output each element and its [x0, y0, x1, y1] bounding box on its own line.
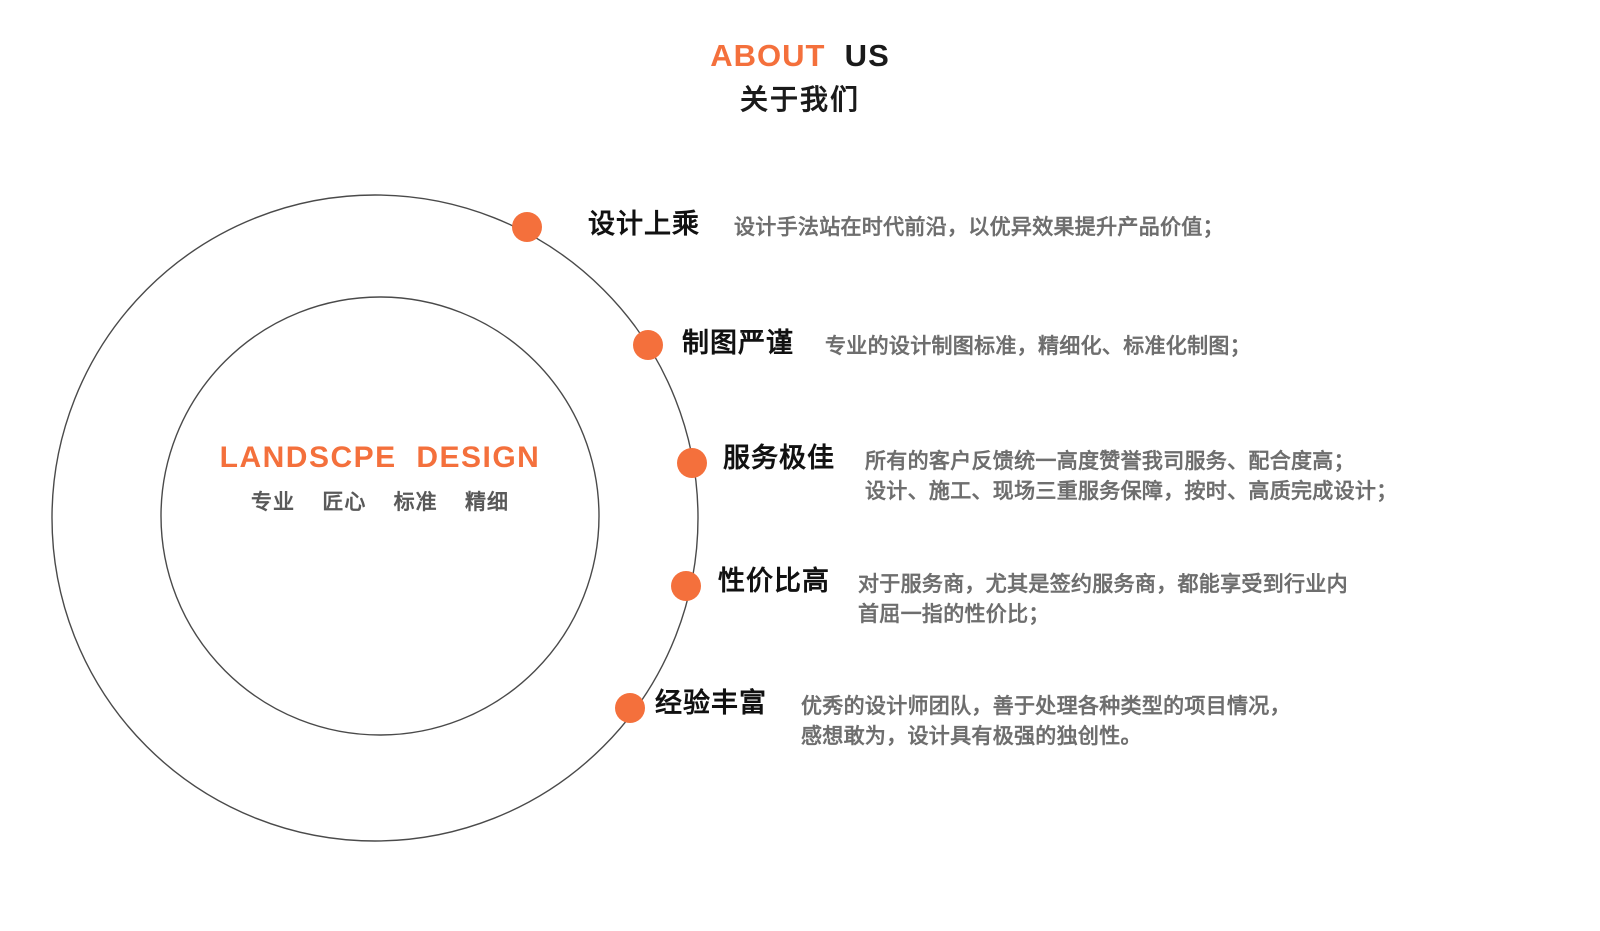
feature-desc-2: 专业的设计制图标准，精细化、标准化制图；	[825, 328, 1251, 362]
outer-ring-circle	[52, 195, 698, 841]
feature-title-5: 经验丰富	[655, 688, 767, 720]
feature-desc-line: 设计、施工、现场三重服务保障，按时、高质完成设计；	[865, 477, 1398, 507]
feature-item-2: 制图严谨 专业的设计制图标准，精细化、标准化制图；	[682, 328, 1251, 362]
feature-desc-line: 对于服务商，尤其是签约服务商，都能享受到行业内	[858, 570, 1348, 600]
feature-desc-4: 对于服务商，尤其是签约服务商，都能享受到行业内 首屈一指的性价比；	[858, 566, 1348, 631]
bullet-dot-3	[677, 448, 707, 478]
bullet-dot-1	[512, 212, 542, 242]
feature-desc-line: 专业的设计制图标准，精细化、标准化制图；	[825, 332, 1251, 362]
bullet-dot-2	[633, 330, 663, 360]
feature-title-4: 性价比高	[718, 566, 830, 598]
feature-item-1: 设计上乘 设计手法站在时代前沿，以优异效果提升产品价值；	[588, 209, 1224, 243]
feature-title-1: 设计上乘	[588, 209, 700, 241]
about-us-infographic: ABOUT US 关于我们 LANDSCPE DESIGN 专业 匠心 标准 精…	[0, 0, 1600, 931]
feature-desc-3: 所有的客户反馈统一高度赞誉我司服务、配合度高； 设计、施工、现场三重服务保障，按…	[865, 443, 1398, 508]
bullet-dot-5	[615, 693, 645, 723]
feature-desc-line: 设计手法站在时代前沿，以优异效果提升产品价值；	[734, 213, 1224, 243]
inner-ring-circle	[161, 297, 599, 735]
feature-item-4: 性价比高 对于服务商，尤其是签约服务商，都能享受到行业内 首屈一指的性价比；	[718, 566, 1348, 631]
feature-title-2: 制图严谨	[682, 328, 794, 360]
bullet-dot-4	[671, 571, 701, 601]
feature-desc-line: 优秀的设计师团队，善于处理各种类型的项目情况，	[801, 692, 1291, 722]
feature-desc-line: 所有的客户反馈统一高度赞誉我司服务、配合度高；	[865, 447, 1398, 477]
feature-desc-line: 感想敢为，设计具有极强的独创性。	[801, 722, 1291, 752]
feature-item-5: 经验丰富 优秀的设计师团队，善于处理各种类型的项目情况， 感想敢为，设计具有极强…	[655, 688, 1291, 753]
feature-desc-1: 设计手法站在时代前沿，以优异效果提升产品价值；	[734, 209, 1224, 243]
feature-title-3: 服务极佳	[723, 443, 835, 475]
feature-desc-5: 优秀的设计师团队，善于处理各种类型的项目情况， 感想敢为，设计具有极强的独创性。	[801, 688, 1291, 753]
feature-item-3: 服务极佳 所有的客户反馈统一高度赞誉我司服务、配合度高； 设计、施工、现场三重服…	[723, 443, 1398, 508]
feature-desc-line: 首屈一指的性价比；	[858, 600, 1348, 630]
